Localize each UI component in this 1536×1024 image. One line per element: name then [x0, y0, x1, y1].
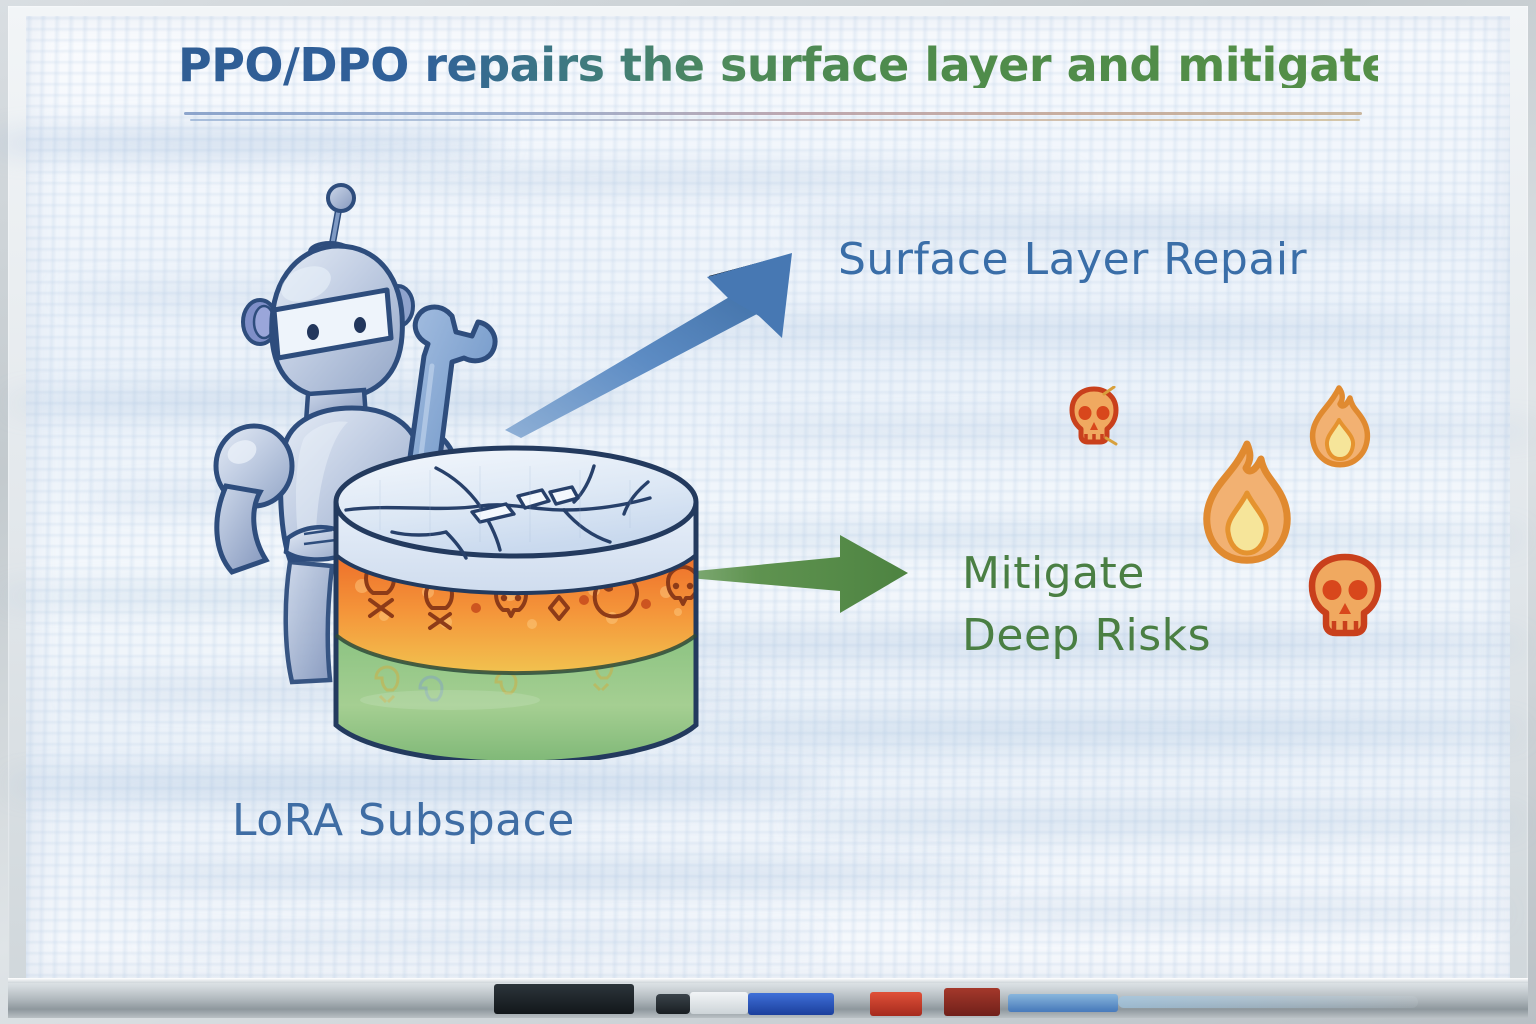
- marker-white[interactable]: [690, 992, 748, 1014]
- skull-icon: [1302, 552, 1388, 642]
- headline-underline-primary: [184, 112, 1362, 115]
- surface-streak: [926, 900, 1506, 926]
- surface-streak: [666, 716, 1526, 746]
- marker-light-blue[interactable]: [1008, 994, 1118, 1012]
- label-mitigate-line1: Mitigate: [962, 548, 1145, 599]
- tray-reflection: [1118, 996, 1418, 1008]
- headline-underline-secondary: [190, 119, 1360, 121]
- surface-streak: [786, 808, 1526, 836]
- label-surface-layer-repair: Surface Layer Repair: [838, 234, 1307, 285]
- surface-streak: [146, 928, 826, 952]
- marker-red[interactable]: [870, 992, 922, 1016]
- marker-dark-red[interactable]: [944, 988, 1000, 1016]
- whiteboard-surface: PPO/DPO repairs the surface layer and mi…: [26, 16, 1510, 978]
- flame-icon: [1300, 384, 1378, 470]
- marker-tray-lip: [8, 978, 1528, 983]
- whiteboard-eraser[interactable]: [494, 984, 634, 1014]
- marker-tray: [8, 978, 1528, 1018]
- label-lora-subspace: LoRA Subspace: [232, 795, 575, 846]
- headline-block: PPO/DPO repairs the surface layer and mi…: [178, 42, 1378, 88]
- lora-subspace-cylinder: [336, 448, 700, 760]
- lora-subspace-illustration: [180, 180, 700, 760]
- flame-icon: [1188, 439, 1306, 571]
- surface-streak: [106, 862, 1006, 892]
- page-title: PPO/DPO repairs the surface layer and mi…: [178, 42, 1378, 88]
- surface-streak: [726, 418, 1536, 444]
- marker-dark[interactable]: [656, 994, 690, 1014]
- whiteboard-frame: PPO/DPO repairs the surface layer and mi…: [0, 0, 1536, 1024]
- label-mitigate-line2: Deep Risks: [962, 610, 1211, 661]
- marker-blue[interactable]: [748, 993, 834, 1015]
- skull-icon: [1064, 386, 1124, 448]
- surface-streak: [0, 126, 506, 160]
